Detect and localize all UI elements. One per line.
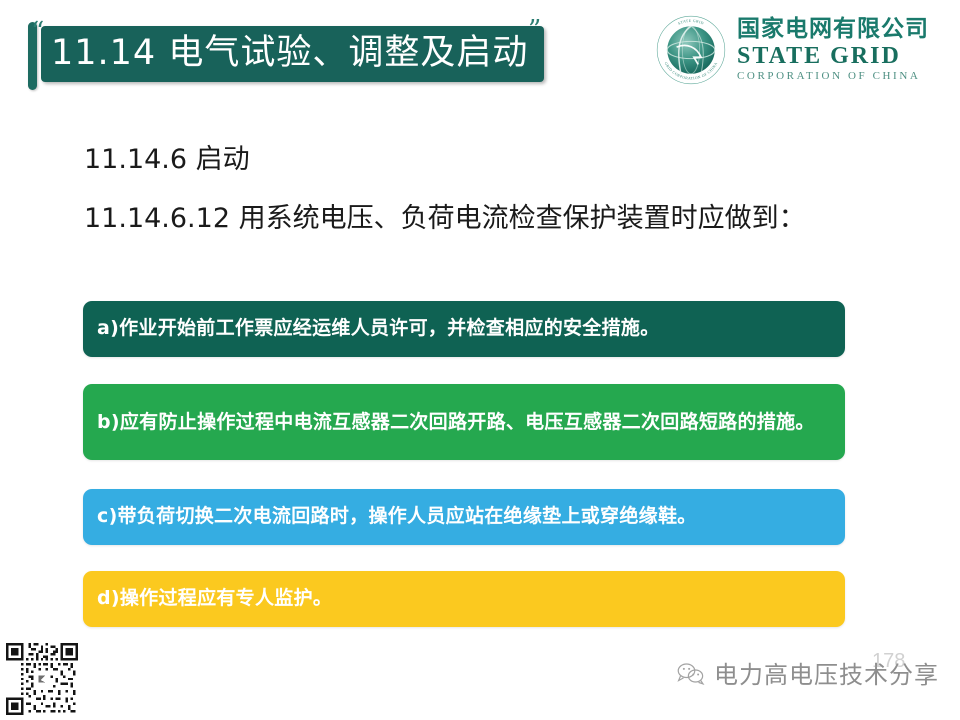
quote-close-icon: ”	[528, 17, 541, 43]
bullet-box-c: c)带负荷切换二次电流回路时，操作人员应站在绝缘垫上或穿绝缘鞋。	[83, 489, 845, 545]
state-grid-logo: STATE GRID GRID CORPORATION OF CHINA 国家电…	[655, 14, 929, 86]
bullet-box-a: a)作业开始前工作票应经运维人员许可，并检查相应的安全措施。	[83, 301, 845, 357]
logo-wordmark: 国家电网有限公司 STATE GRID CORPORATION OF CHINA	[737, 18, 929, 82]
page-number: 178	[872, 650, 905, 673]
bullet-box-b-text: b)应有防止操作过程中电流互感器二次回路开路、电压互感器二次回路短路的措施。	[97, 408, 815, 437]
logo-company-en-sub: CORPORATION OF CHINA	[737, 71, 929, 82]
slide-title-banner: 11.14 电气试验、调整及启动	[28, 26, 544, 82]
bullet-box-b: b)应有防止操作过程中电流互感器二次回路开路、电压互感器二次回路短路的措施。	[83, 384, 845, 460]
page-title: 11.14 电气试验、调整及启动	[51, 34, 528, 73]
logo-company-cn: 国家电网有限公司	[737, 18, 929, 41]
quote-open-icon: “	[31, 19, 44, 45]
state-grid-globe-emblem-icon: STATE GRID GRID CORPORATION OF CHINA	[655, 14, 727, 86]
svg-text:STATE GRID: STATE GRID	[678, 19, 705, 26]
wechat-chat-bubble-icon	[676, 661, 706, 685]
section-heading-2: 11.14.6.12 用系统电压、负荷电流检查保护装置时应做到：	[84, 196, 806, 235]
bullet-box-a-text: a)作业开始前工作票应经运维人员许可，并检查相应的安全措施。	[97, 315, 660, 343]
bullet-box-c-text: c)带负荷切换二次电流回路时，操作人员应站在绝缘垫上或穿绝缘鞋。	[97, 503, 697, 531]
title-banner-box: 11.14 电气试验、调整及启动	[41, 26, 544, 82]
bullet-box-d: d)操作过程应有专人监护。	[83, 571, 845, 627]
qr-code[interactable]	[6, 643, 78, 715]
slide-canvas: 11.14 电气试验、调整及启动 “ ” STATE GR	[0, 0, 960, 720]
logo-company-en: STATE GRID	[737, 44, 929, 68]
section-heading-1: 11.14.6 启动	[84, 137, 250, 176]
bullet-box-d-text: d)操作过程应有专人监护。	[97, 585, 332, 613]
